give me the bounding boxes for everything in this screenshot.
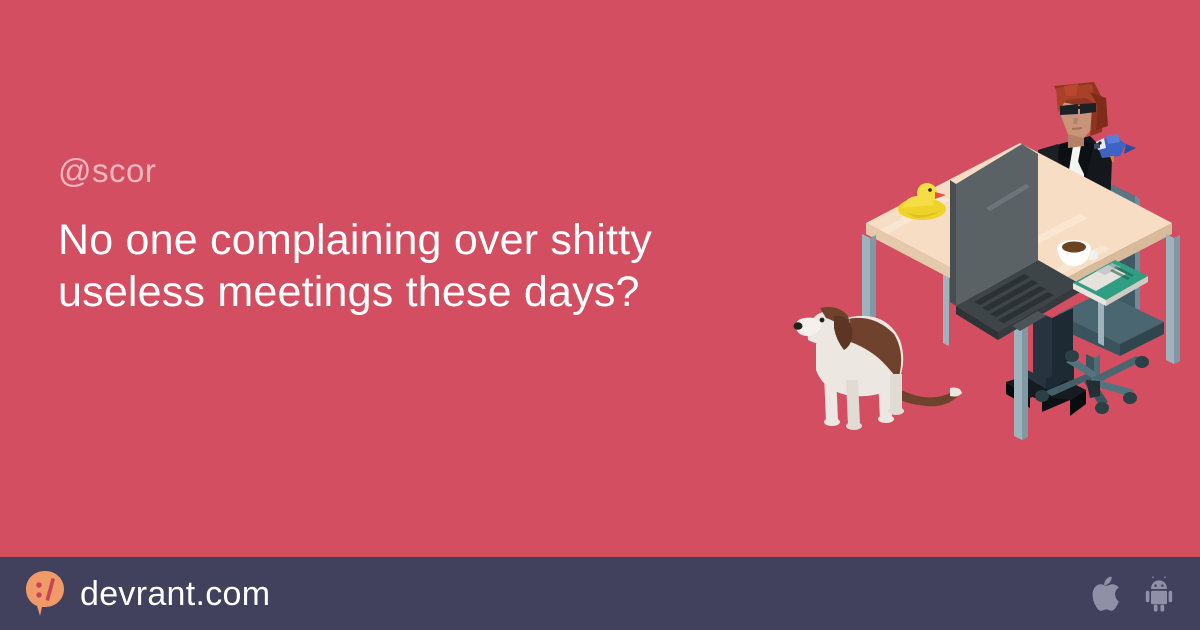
apple-icon[interactable]: [1092, 576, 1122, 612]
brand-link[interactable]: devrant.com: [24, 570, 270, 617]
platform-badges: [1092, 576, 1174, 612]
brand-name-label: devrant.com: [80, 577, 270, 611]
android-icon[interactable]: [1144, 576, 1174, 612]
devrant-speech-bubble-icon: [24, 570, 66, 617]
dog: [794, 307, 963, 430]
rant-body: No one complaining over shitty useless m…: [58, 214, 738, 318]
rant-username[interactable]: @scor: [58, 152, 738, 190]
rant-body-line-1: No one complaining over shitty: [58, 214, 738, 266]
devrant-rant-card: @scor No one complaining over shitty use…: [0, 0, 1200, 630]
footer-bar: devrant.com: [0, 557, 1200, 630]
rant-content: @scor No one complaining over shitty use…: [58, 152, 738, 318]
office-desk-illustration: [790, 78, 1190, 498]
rant-body-line-2: useless meetings these days?: [58, 266, 738, 318]
